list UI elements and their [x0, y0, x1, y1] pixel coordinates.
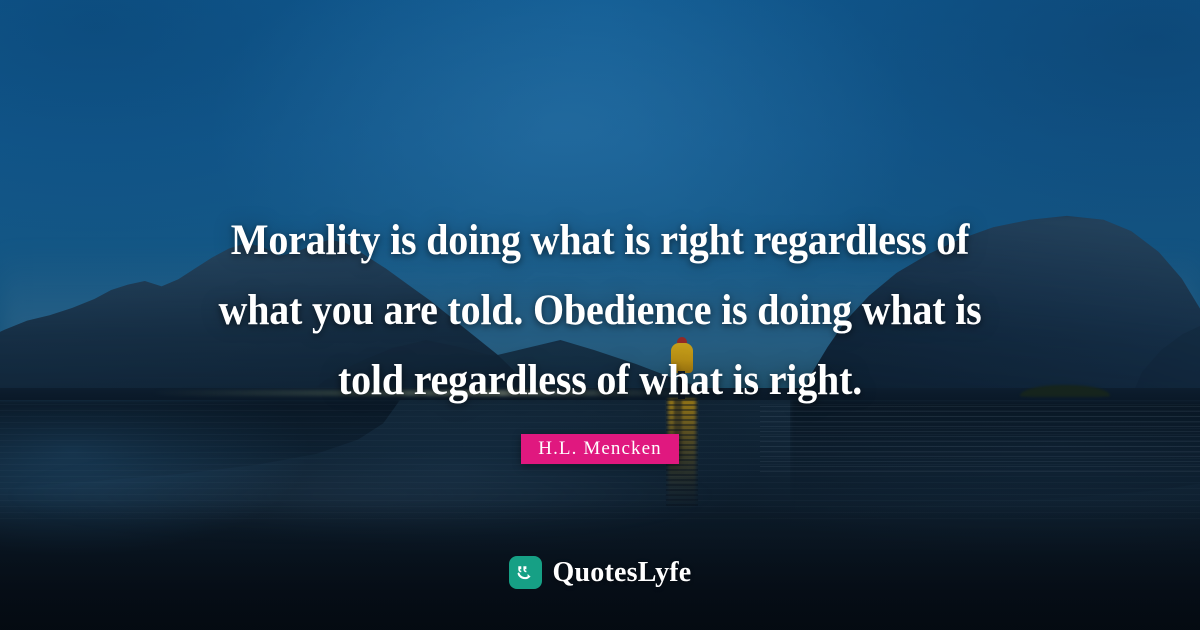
card-content: Morality is doing what is right regardle…: [0, 0, 1200, 630]
brand-logo[interactable]: QuotesLyfe: [0, 556, 1200, 589]
quote-line-3: told regardless of what is right.: [182, 346, 1019, 416]
quote-line-1: Morality is doing what is right regardle…: [182, 206, 1019, 276]
author-badge: H.L. Mencken: [521, 434, 678, 464]
brand-name: QuotesLyfe: [553, 557, 692, 589]
quote-text: Morality is doing what is right regardle…: [182, 206, 1019, 416]
quote-bubble-icon: [509, 556, 542, 589]
quote-line-2: what you are told. Obedience is doing wh…: [182, 276, 1019, 346]
quote-card: Morality is doing what is right regardle…: [0, 0, 1200, 630]
